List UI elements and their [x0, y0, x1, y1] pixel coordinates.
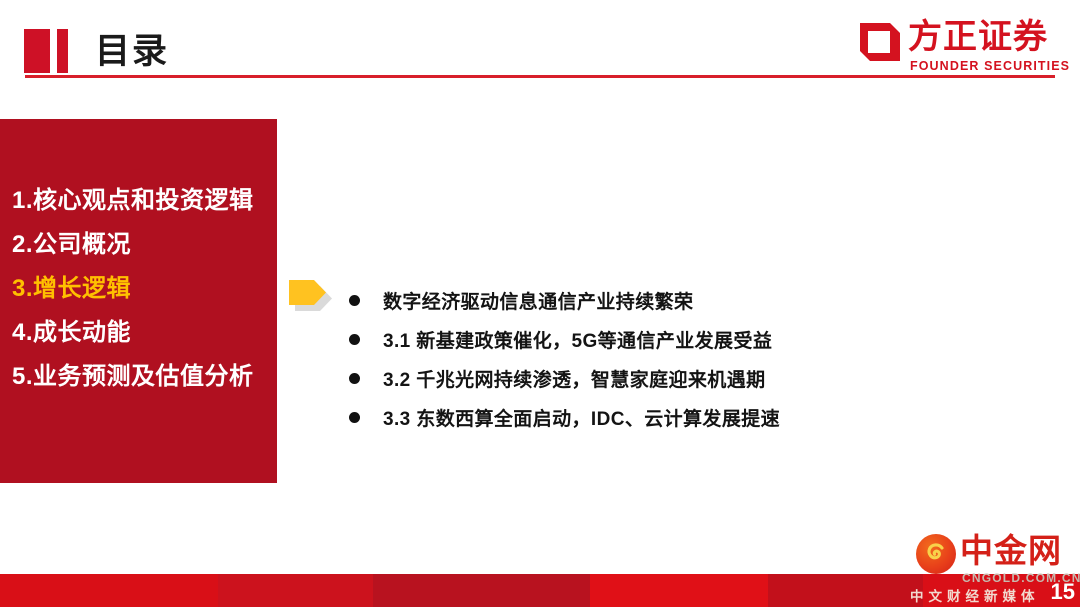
- cngold-swirl-icon: [916, 534, 956, 574]
- content-bullet-list: 数字经济驱动信息通信产业持续繁荣 3.1 新基建政策催化，5G等通信产业发展受益…: [349, 281, 1049, 437]
- bullet-dot-icon: [349, 334, 360, 345]
- company-logo: 方正证券 FOUNDER SECURITIES: [826, 18, 1058, 74]
- bullet-item-4: 3.3 东数西算全面启动，IDC、云计算发展提速: [349, 398, 1049, 437]
- footer-panel-3: [373, 574, 590, 607]
- bullet-label: 数字经济驱动信息通信产业持续繁荣: [383, 287, 693, 314]
- founder-square-mark-icon: [860, 21, 900, 61]
- bullet-label: 3.3 东数西算全面启动，IDC、云计算发展提速: [383, 404, 780, 431]
- watermark-name: 中金网: [960, 527, 1062, 575]
- sidebar-item-2[interactable]: 2.公司概况: [12, 223, 277, 267]
- page-title: 目录: [95, 30, 169, 74]
- logo-name-cn: 方正证券: [908, 15, 1048, 59]
- header-accent-bar-thin: [57, 29, 68, 73]
- watermark-tagline: 中文财经新媒体: [910, 585, 1040, 605]
- bullet-label: 3.2 千兆光网持续渗透，智慧家庭迎来机遇期: [383, 365, 766, 392]
- footer-panel-1: [0, 574, 218, 607]
- bullet-label: 3.1 新基建政策催化，5G等通信产业发展受益: [383, 326, 772, 353]
- bullet-dot-icon: [349, 295, 360, 306]
- bullet-item-2: 3.1 新基建政策催化，5G等通信产业发展受益: [349, 320, 1049, 359]
- footer-panel-4: [590, 574, 768, 607]
- bullet-dot-icon: [349, 373, 360, 384]
- slide-canvas: 目录 方正证券 FOUNDER SECURITIES 1.核心观点和投资逻辑 2…: [0, 0, 1080, 607]
- bullet-item-3: 3.2 千兆光网持续渗透，智慧家庭迎来机遇期: [349, 359, 1049, 398]
- sidebar-item-3[interactable]: 3.增长逻辑: [12, 267, 277, 311]
- sidebar-item-5[interactable]: 5.业务预测及估值分析: [12, 355, 277, 399]
- sidebar-item-1[interactable]: 1.核心观点和投资逻辑: [12, 179, 277, 223]
- page-number: 15: [1051, 579, 1075, 605]
- footer-panel-2: [218, 574, 373, 607]
- logo-name-en: FOUNDER SECURITIES: [910, 59, 1070, 73]
- right-arrow-chevron-icon: [289, 278, 336, 311]
- toc-sidebar-panel: 1.核心观点和投资逻辑 2.公司概况 3.增长逻辑 4.成长动能 5.业务预测及…: [0, 119, 277, 483]
- header-accent-bar-wide: [24, 29, 50, 73]
- watermark: 中金网 CNGOLD.COM.CN 中文财经新媒体: [898, 529, 1076, 601]
- bullet-item-1: 数字经济驱动信息通信产业持续繁荣: [349, 281, 1049, 320]
- toc-list: 1.核心观点和投资逻辑 2.公司概况 3.增长逻辑 4.成长动能 5.业务预测及…: [12, 179, 277, 399]
- header-divider: [25, 75, 1055, 78]
- bullet-dot-icon: [349, 412, 360, 423]
- sidebar-item-4[interactable]: 4.成长动能: [12, 311, 277, 355]
- swirl-glyph-icon: [925, 542, 948, 567]
